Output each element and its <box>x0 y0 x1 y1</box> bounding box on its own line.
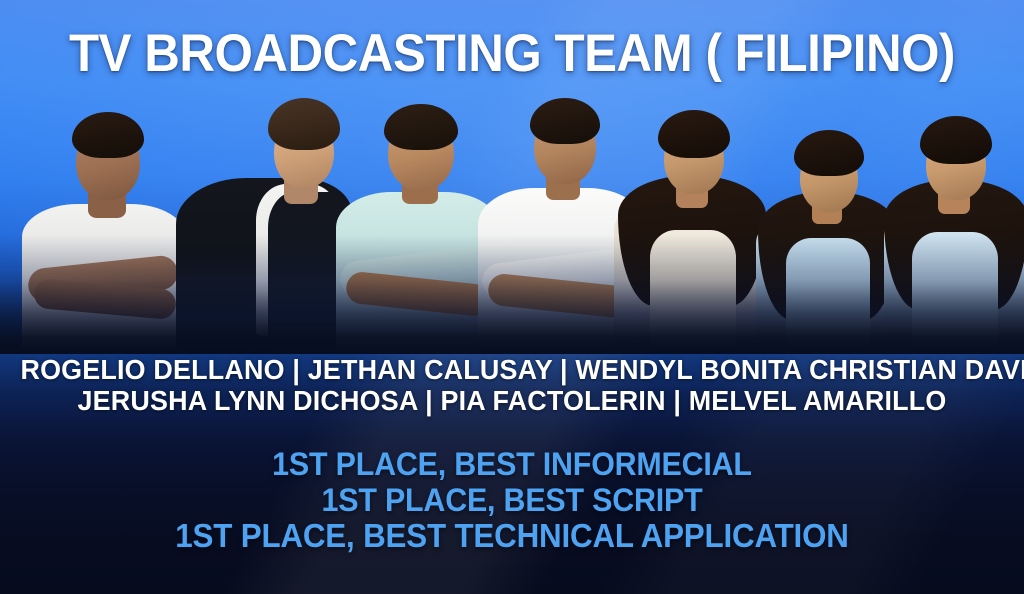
person-5-hair <box>658 110 730 158</box>
page-title: TV BROADCASTING TEAM ( FILIPINO) <box>36 27 988 80</box>
awards-list: 1ST PLACE, BEST INFORMECIAL 1ST PLACE, B… <box>26 446 999 554</box>
award-item-2: 1ST PLACE, BEST SCRIPT <box>26 482 999 518</box>
team-member-names: ROGELIO DELLANO | JETHAN CALUSAY | WENDY… <box>20 354 1003 416</box>
person-4-hair <box>530 98 600 144</box>
person-photo-1 <box>14 86 194 354</box>
person-5-blouse-front <box>650 230 736 354</box>
team-photo-group <box>0 86 1024 354</box>
person-1-hair <box>72 112 144 158</box>
names-line-1: ROGELIO DELLANO | JETHAN CALUSAY | WENDY… <box>20 354 1003 385</box>
person-7-shirt-front <box>912 232 998 354</box>
award-item-3: 1ST PLACE, BEST TECHNICAL APPLICATION <box>26 518 999 554</box>
person-7-hair <box>920 116 992 164</box>
team-poster: TV BROADCASTING TEAM ( FILIPINO) ROGELIO… <box>0 0 1024 594</box>
person-6-shirt-front <box>786 238 870 354</box>
person-photo-7 <box>880 86 1024 354</box>
award-item-1: 1ST PLACE, BEST INFORMECIAL <box>26 446 999 482</box>
person-3-hair <box>384 104 458 150</box>
names-line-2: JERUSHA LYNN DICHOSA | PIA FACTOLERIN | … <box>20 385 1003 416</box>
person-6-hair <box>794 130 864 176</box>
